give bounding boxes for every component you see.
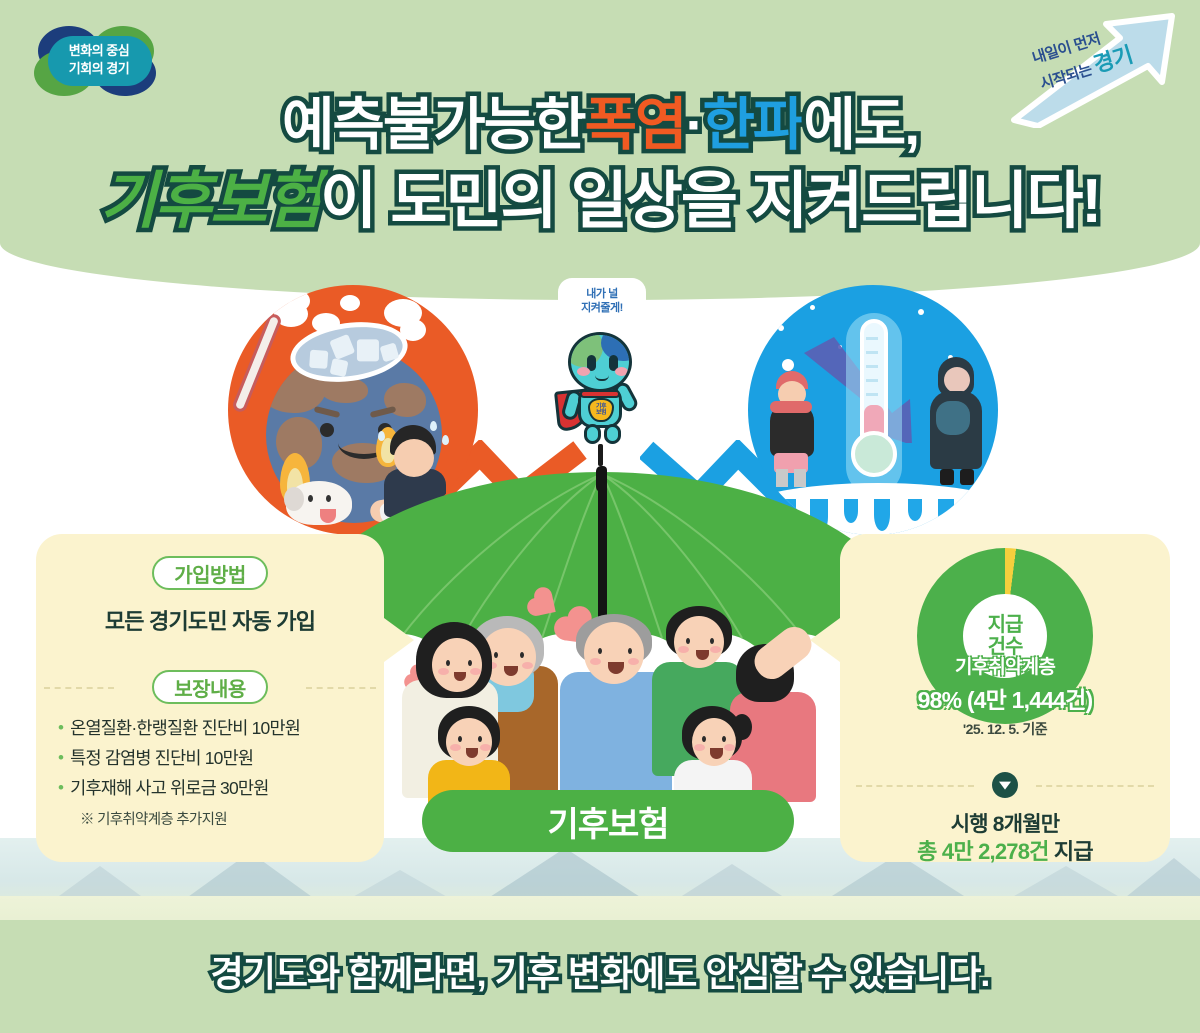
mascot-speech-text: 내가 널 지켜줄게!	[581, 287, 623, 316]
headline-heatwave: 폭염	[585, 92, 686, 159]
chevron-down-icon	[992, 772, 1018, 798]
donut-as-of-date: '25. 12. 5. 기준	[840, 719, 1170, 739]
right-card-tail	[810, 618, 840, 662]
stats-divider	[840, 772, 1170, 803]
coverage-divider-left	[44, 687, 114, 689]
mascot-speech-bubble: 내가 널 지켜줄게!	[558, 278, 646, 324]
headline-line-1: 예측불가능한 폭염·한파에도,	[0, 92, 1200, 159]
bundled-person-icon	[926, 357, 992, 489]
headline: 예측불가능한 폭염·한파에도, 기후보험이 도민의 일상을 지켜드립니다!	[0, 92, 1200, 238]
stats-divider-right	[1036, 785, 1154, 787]
bullet-dot-icon: •	[58, 718, 63, 738]
headline-line2-rest: 이 도민의 일상을 지켜드립니다!	[320, 165, 1100, 238]
coverage-bullet-list: • 온열질환·한랭질환 진단비 10만원 • 특정 감염병 진단비 10만원 •…	[58, 718, 384, 799]
headline-coldwave: 한파	[702, 92, 803, 159]
climate-insurance-banner: 기후보험	[422, 790, 794, 852]
coverage-bullet-text: 온열질환·한랭질환 진단비 10만원	[70, 718, 300, 739]
mascot-badge-text: 기후 보험	[596, 404, 606, 416]
mascot-leg-right	[604, 424, 621, 444]
mascot-speech-line2: 지켜줄게!	[581, 301, 623, 315]
headline-line-2: 기후보험이 도민의 일상을 지켜드립니다!	[0, 165, 1200, 238]
coverage-bullet-text: 기후재해 사고 위로금 30만원	[70, 778, 268, 799]
result-suffix: 지급	[1049, 839, 1093, 864]
join-method-value: 모든 경기도민 자동 가입	[36, 604, 384, 636]
coverage-label-wrap: 보장내용	[36, 670, 384, 704]
coverage-divider-right	[306, 687, 376, 689]
footer-message: 경기도와 함께라면, 기후 변화에도 안심할 수 있습니다.	[0, 945, 1200, 997]
mascot-speech-line1: 내가 널	[581, 287, 623, 301]
poster-root: 변화의 중심 기회의 경기 내일이 먼저 시작되는 경기 예측불가능한 폭염·한…	[0, 0, 1200, 1033]
mascot-head	[568, 332, 632, 392]
headline-dot: ·	[685, 92, 702, 159]
headline-climate-insurance: 기후보험	[100, 165, 320, 238]
logo-text-line1: 변화의 중심	[30, 42, 168, 60]
coverage-bullet-text: 특정 감염병 진단비 10만원	[70, 748, 253, 769]
enrollment-info-card: 가입방법 모든 경기도민 자동 가입 보장내용 • 온열질환·한랭질환 진단비 …	[36, 534, 384, 862]
donut-caption-line1: 기후취약계층	[840, 652, 1170, 679]
climate-insurance-banner-text: 기후보험	[547, 797, 668, 846]
list-item: • 기후재해 사고 위로금 30만원	[58, 778, 384, 799]
mascot-stand-pole	[598, 444, 603, 466]
mascot-badge-line2: 보험	[596, 410, 606, 416]
bullet-dot-icon: •	[58, 748, 63, 768]
join-method-label-wrap: 가입방법	[36, 556, 384, 590]
bullet-dot-icon: •	[58, 778, 63, 798]
logo-text: 변화의 중심 기회의 경기	[30, 42, 168, 77]
headline-line1-part2: 에도,	[803, 92, 918, 159]
list-item: • 온열질환·한랭질환 진단비 10만원	[58, 718, 384, 739]
result-line2: 총 4만 2,278건 지급	[840, 834, 1170, 866]
coverage-label: 보장내용	[152, 670, 268, 704]
donut-caption-line2: 98% (4만 1,444건)	[840, 681, 1170, 715]
payout-stats-card: 지급 건수 기후취약계층 98% (4만 1,444건) '25. 12. 5.…	[840, 534, 1170, 862]
left-card-tail	[384, 618, 414, 662]
mascot-leg-left	[584, 424, 601, 444]
coverage-note: ※ 기후취약계층 추가지원	[80, 808, 384, 829]
stats-divider-left	[856, 785, 974, 787]
logo-text-line2: 기회의 경기	[30, 60, 168, 78]
headline-line1-part1: 예측불가능한	[282, 92, 585, 159]
donut-center-line1: 지급	[988, 614, 1023, 636]
gyeonggi-logo: 변화의 중심 기회의 경기	[30, 24, 168, 96]
result-total: 총 4만 2,278건	[917, 839, 1048, 864]
earth-superhero-mascot: 기후 보험	[552, 332, 648, 450]
join-method-label: 가입방법	[152, 556, 268, 590]
donut-caption: 기후취약계층 98% (4만 1,444건) '25. 12. 5. 기준	[840, 652, 1170, 739]
freezing-thermometer-icon	[854, 319, 894, 489]
list-item: • 특정 감염병 진단비 10만원	[58, 748, 384, 769]
